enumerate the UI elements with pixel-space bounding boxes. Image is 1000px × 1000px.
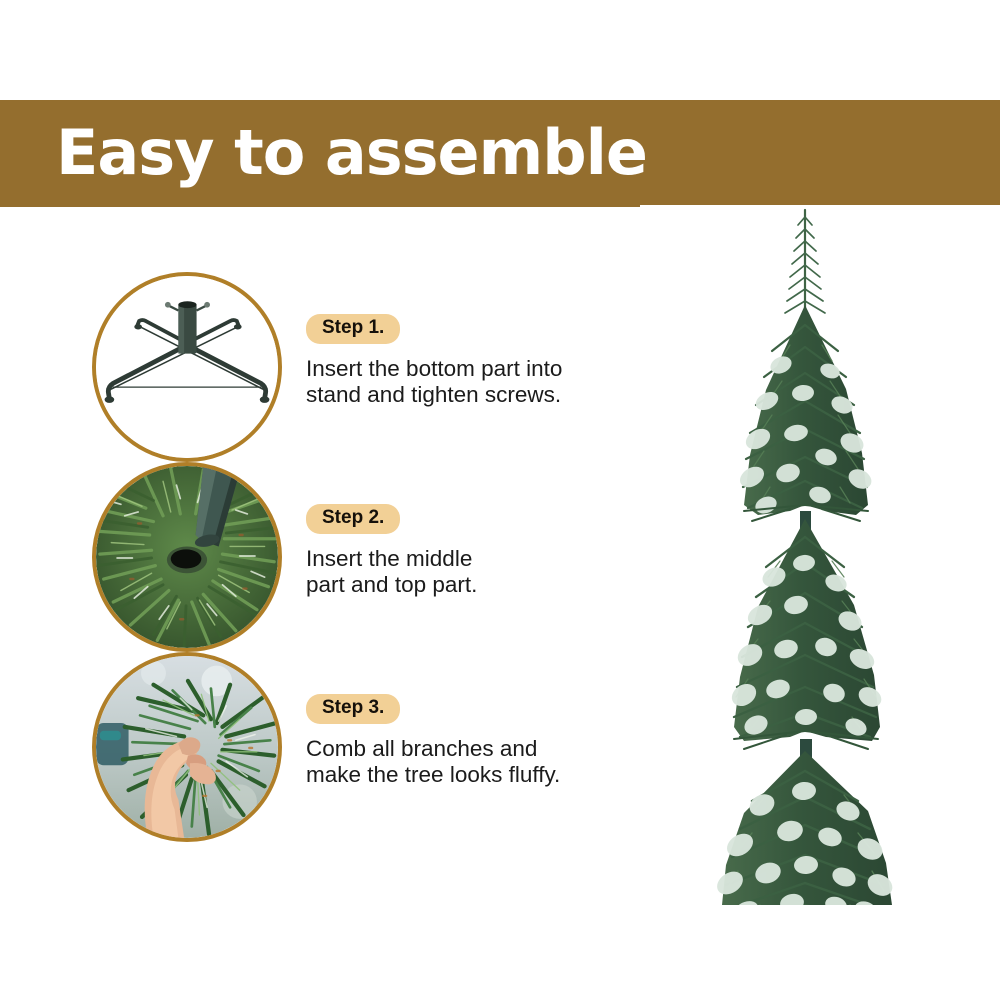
pine-needle-closeup-illustration [96, 466, 278, 648]
tree-stand-illustration [96, 276, 278, 458]
step-description: Insert the middle part and top part. [306, 546, 636, 599]
page-title: Easy to assemble [56, 116, 647, 189]
step-image-circle [92, 652, 282, 842]
step-badge: Step 2. [306, 504, 400, 534]
step-badge: Step 3. [306, 694, 400, 724]
step-text-block: Step 1. Insert the bottom part into stan… [306, 314, 636, 409]
headline-banner: Easy to assemble [0, 100, 1000, 207]
hand-combing-branches-photo [96, 656, 278, 838]
step-row: Step 2. Insert the middle part and top p… [0, 462, 640, 652]
pole-into-socket-photo [96, 466, 278, 648]
step-text-block: Step 2. Insert the middle part and top p… [306, 504, 636, 599]
step-badge: Step 1. [306, 314, 400, 344]
step-description: Insert the bottom part into stand and ti… [306, 356, 636, 409]
step-text-block: Step 3. Comb all branches and make the t… [306, 694, 636, 789]
step-image-circle [92, 462, 282, 652]
step-image-circle [92, 272, 282, 462]
product-infographic-page: Easy to assemble [0, 0, 1000, 1000]
christmas-tree-product-image [640, 205, 1000, 905]
step-description: Comb all branches and make the tree look… [306, 736, 636, 789]
christmas-tree-illustration [640, 205, 1000, 905]
step-row: Step 1. Insert the bottom part into stan… [0, 272, 640, 462]
hand-combing-illustration [96, 656, 278, 838]
step-row: Step 3. Comb all branches and make the t… [0, 652, 640, 842]
tree-stand-photo [96, 276, 278, 458]
